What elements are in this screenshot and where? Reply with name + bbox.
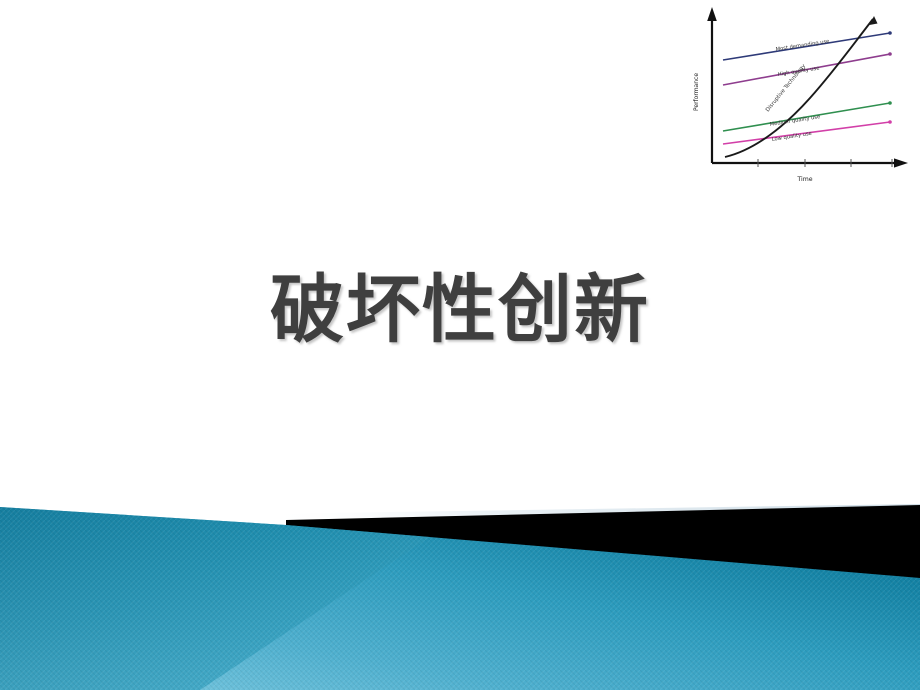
series-endpoint-high-quality-use — [888, 52, 892, 56]
decorative-band-graphic — [0, 480, 920, 690]
chart-background — [680, 0, 915, 190]
presentation-slide: Most demanding use High quality use Medi… — [0, 0, 920, 690]
series-endpoint-most-demanding-use — [888, 31, 892, 35]
series-endpoint-medium-quality-use — [888, 101, 892, 105]
x-axis-label: Time — [796, 176, 812, 183]
disruptive-innovation-chart-image: Most demanding use High quality use Medi… — [680, 0, 915, 190]
slide-footer-decoration — [0, 480, 920, 690]
line-chart-icon: Most demanding use High quality use Medi… — [680, 0, 915, 190]
y-axis-label: Performance — [693, 73, 700, 111]
series-endpoint-low-quality-use — [888, 120, 892, 124]
page-title: 破坏性创新 — [270, 268, 650, 353]
slide-title-block: 破坏性创新 — [0, 268, 920, 353]
